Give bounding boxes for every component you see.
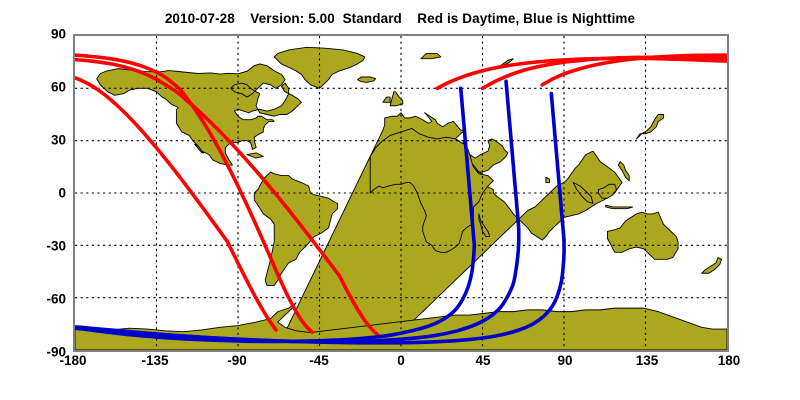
y-axis-tick-label: -30 <box>6 239 66 254</box>
map-canvas <box>75 36 727 350</box>
y-axis-tick-label: 60 <box>6 80 66 95</box>
x-axis-tick-label: 180 <box>694 353 764 368</box>
x-axis-tick-label: -90 <box>202 353 272 368</box>
x-axis-tick-label: -180 <box>38 353 108 368</box>
y-axis-tick-label: 30 <box>6 133 66 148</box>
figure-title: 2010-07-28 Version: 5.00 Standard Red is… <box>0 11 800 26</box>
x-axis-tick-label: 135 <box>612 353 682 368</box>
map-plot-area <box>73 34 729 352</box>
x-axis-tick-label: 45 <box>448 353 518 368</box>
y-axis-tick-label: 90 <box>6 27 66 42</box>
y-axis-tick-label: -60 <box>6 292 66 307</box>
x-axis-tick-label: -45 <box>284 353 354 368</box>
ground-track-map-figure: 2010-07-28 Version: 5.00 Standard Red is… <box>0 0 800 400</box>
x-axis-tick-label: 90 <box>530 353 600 368</box>
y-axis-tick-label: 0 <box>6 186 66 201</box>
x-axis-tick-label: -135 <box>120 353 190 368</box>
x-axis-tick-label: 0 <box>366 353 436 368</box>
